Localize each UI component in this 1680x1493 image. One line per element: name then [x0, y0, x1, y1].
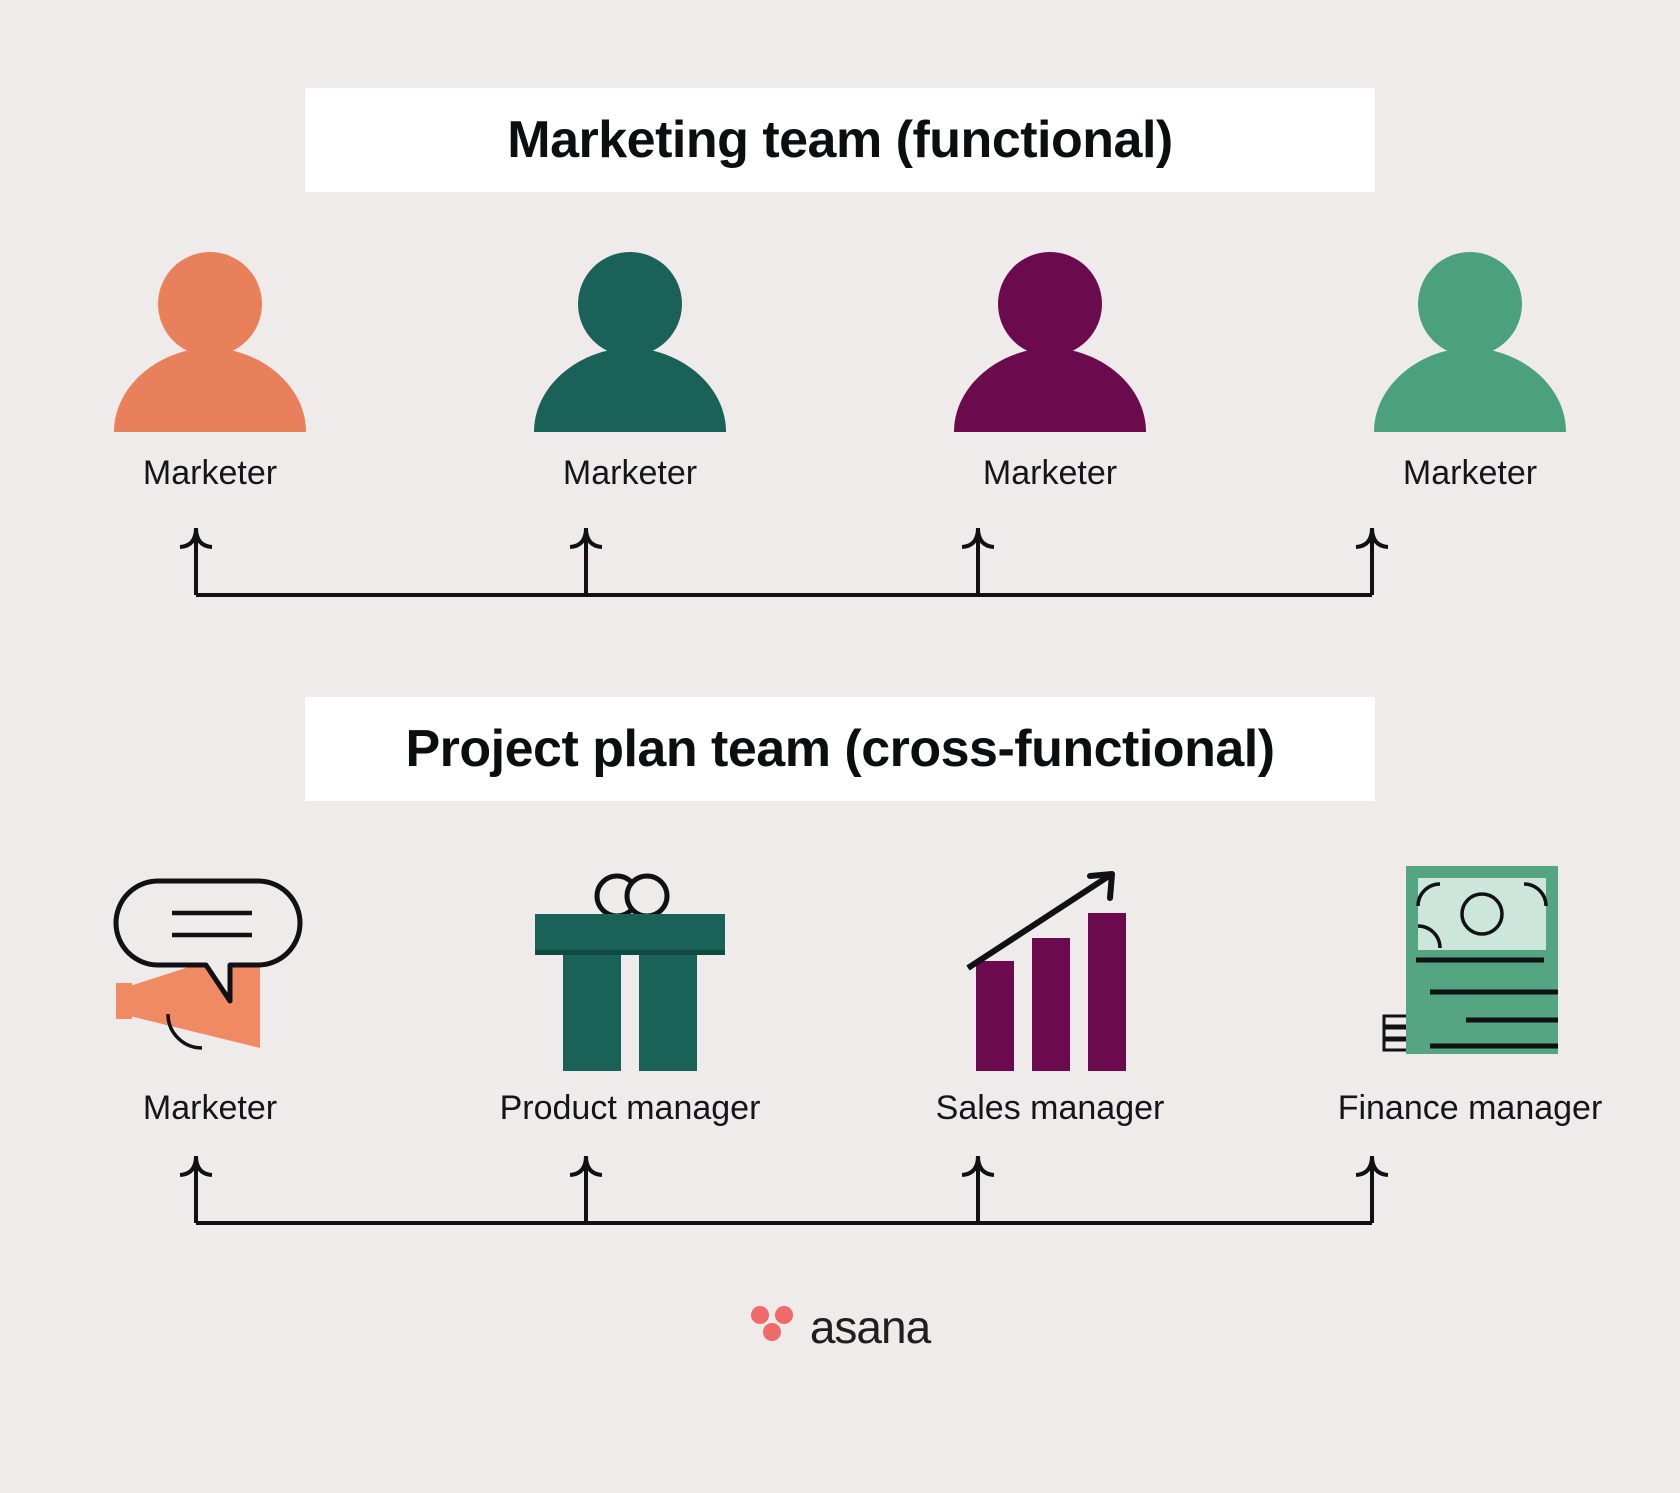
- person-icon: [1370, 252, 1570, 432]
- team-member-label: Marketer: [1403, 454, 1537, 493]
- person-icon: [950, 252, 1150, 432]
- icon-container: [520, 856, 740, 1071]
- team-member-project-2: Sales manager: [840, 856, 1260, 1128]
- team-member-project-1: Product manager: [420, 856, 840, 1128]
- team-member-marketing-2: Marketer: [840, 252, 1260, 493]
- team-member-label: Product manager: [500, 1089, 761, 1128]
- footer-brand: asana: [0, 1300, 1680, 1354]
- section-banner-marketing-team: Marketing team (functional): [305, 88, 1375, 192]
- asana-logo-icon: [750, 1306, 794, 1348]
- marketing-team-member-row: Marketer Marketer Marketer Marketer: [0, 252, 1680, 493]
- bar-chart-growth-icon: [950, 856, 1150, 1071]
- person-icon: [530, 252, 730, 432]
- team-member-marketing-1: Marketer: [420, 252, 840, 493]
- team-member-label: Marketer: [983, 454, 1117, 493]
- team-member-project-0: Marketer: [0, 856, 420, 1128]
- team-member-marketing-0: Marketer: [0, 252, 420, 493]
- asana-wordmark: asana: [810, 1300, 930, 1354]
- team-member-project-3: Finance manager: [1260, 856, 1680, 1128]
- section-title-text: Project plan team (cross-functional): [405, 719, 1274, 779]
- banknote-icon: [1370, 856, 1570, 1071]
- team-member-label: Sales manager: [936, 1089, 1165, 1128]
- icon-container: [940, 856, 1160, 1071]
- team-member-label: Marketer: [143, 454, 277, 493]
- project-plan-team-member-row: Marketer Product manager: [0, 856, 1680, 1128]
- team-member-marketing-3: Marketer: [1260, 252, 1680, 493]
- person-icon: [110, 252, 310, 432]
- section-title-text: Marketing team (functional): [507, 110, 1172, 170]
- gift-box-icon: [525, 856, 735, 1071]
- team-member-label: Marketer: [143, 1089, 277, 1128]
- team-member-label: Marketer: [563, 454, 697, 493]
- infographic-canvas: Marketing team (functional) Marketer Mar…: [0, 0, 1680, 1493]
- icon-container: [100, 856, 320, 1071]
- team-grouping-bracket: [0, 1148, 1680, 1228]
- section-banner-project-plan-team: Project plan team (cross-functional): [305, 697, 1375, 801]
- megaphone-icon: [110, 856, 310, 1071]
- icon-container: [1360, 856, 1580, 1071]
- team-member-label: Finance manager: [1338, 1089, 1603, 1128]
- team-grouping-bracket: [0, 520, 1680, 600]
